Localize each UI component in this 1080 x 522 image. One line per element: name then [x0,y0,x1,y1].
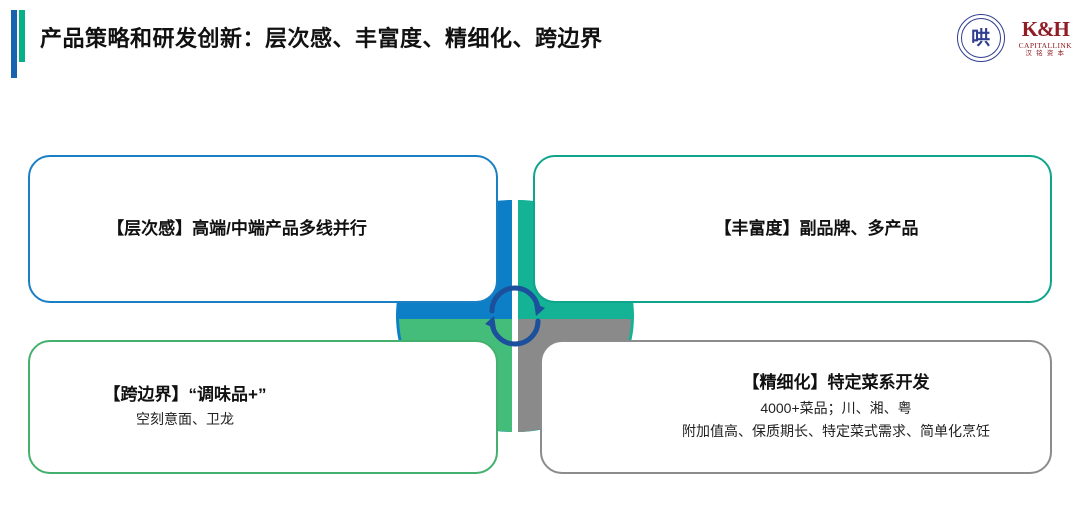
panel-cross-boundary[interactable]: 【跨边界】“调味品+” 空刻意面、卫龙 [28,340,498,474]
panel-cross-boundary-heading: 【跨边界】“调味品+” [104,383,267,408]
panel-refinement-sub-line1: 4000+菜品；川、湘、粤 [760,398,911,420]
panel-richness[interactable]: 【丰富度】副品牌、多产品 [533,155,1052,303]
panel-richness-heading: 【丰富度】副品牌、多产品 [715,217,919,242]
panel-refinement[interactable]: 【精细化】特定菜系开发 4000+菜品；川、湘、粤 附加值高、保质期长、特定菜式… [540,340,1052,474]
panel-layering-heading: 【层次感】高端/中端产品多线并行 [107,217,367,242]
panel-refinement-sub-line2: 附加值高、保质期长、特定菜式需求、简单化烹饪 [682,421,990,443]
panel-cross-boundary-sub: 空刻意面、卫龙 [136,409,234,431]
panel-layering[interactable]: 【层次感】高端/中端产品多线并行 [28,155,498,303]
panel-refinement-heading: 【精细化】特定菜系开发 [743,371,930,396]
